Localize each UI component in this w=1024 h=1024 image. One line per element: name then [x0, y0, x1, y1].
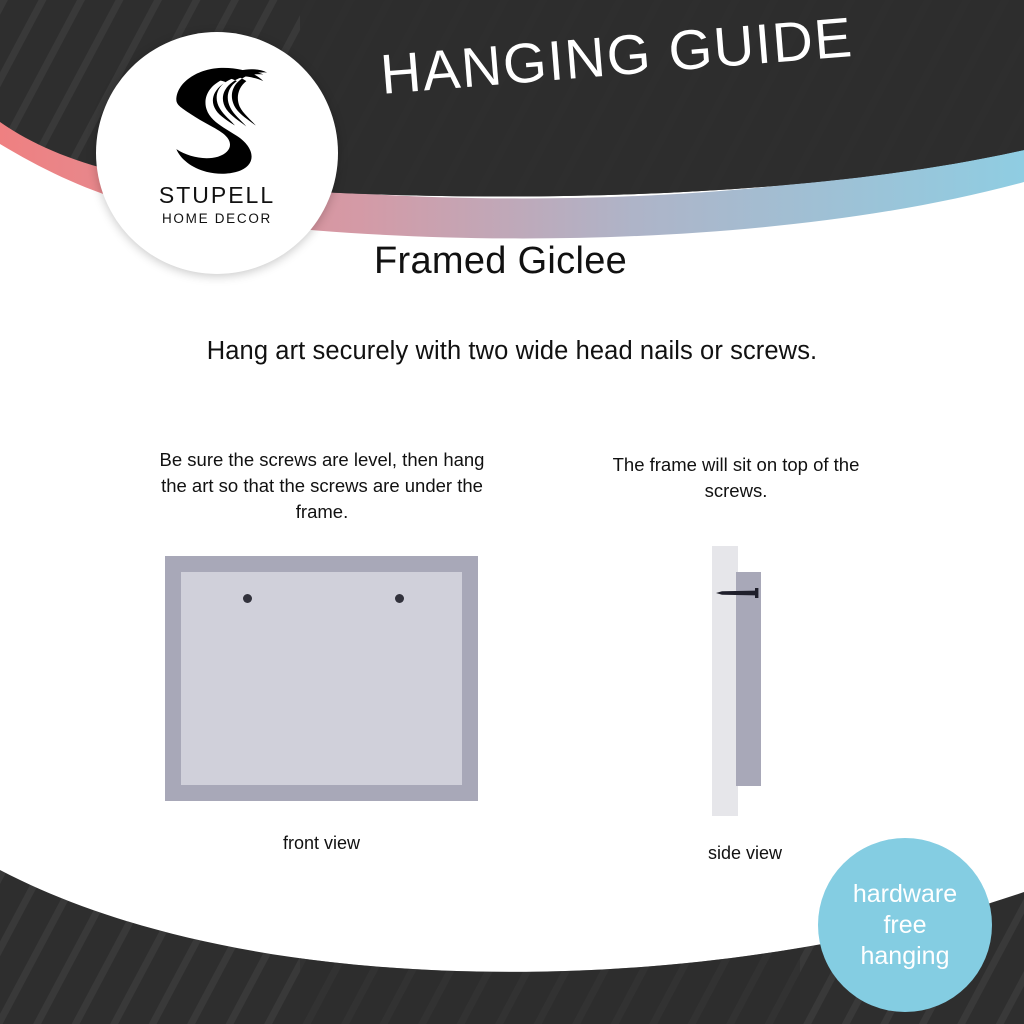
front-view-label: front view	[165, 833, 478, 854]
side-view-label: side view	[655, 843, 835, 864]
stupell-logo-badge: STUPELL HOME DECOR	[96, 32, 338, 274]
screw-dot-right-icon	[395, 594, 404, 603]
hanging-guide-page: STUPELL HOME DECOR HANGING GUIDE Framed …	[0, 0, 1024, 1024]
hardware-free-hanging-badge: hardware free hanging	[818, 838, 992, 1012]
side-view-frame-panel	[736, 572, 761, 786]
main-instruction-text: Hang art securely with two wide head nai…	[0, 337, 1024, 366]
stupell-s-swoosh-icon	[165, 58, 269, 176]
side-view-wall	[712, 546, 738, 816]
badge-line-3: hanging	[861, 941, 950, 972]
logo-brand-name: STUPELL	[159, 182, 275, 209]
badge-line-1: hardware	[853, 879, 957, 910]
front-view-diagram	[165, 556, 478, 801]
side-view-diagram	[700, 546, 790, 816]
logo-brand-subname: HOME DECOR	[162, 211, 272, 226]
badge-line-2: free	[883, 910, 926, 941]
front-view-caption: Be sure the screws are level, then hang …	[152, 447, 492, 525]
front-view-art-area	[181, 572, 462, 785]
nail-side-icon	[716, 588, 762, 598]
product-type-subtitle: Framed Giclee	[374, 240, 627, 283]
screw-dot-left-icon	[243, 594, 252, 603]
page-title: HANGING GUIDE	[378, 4, 855, 107]
side-view-caption: The frame will sit on top of the screws.	[600, 452, 872, 504]
